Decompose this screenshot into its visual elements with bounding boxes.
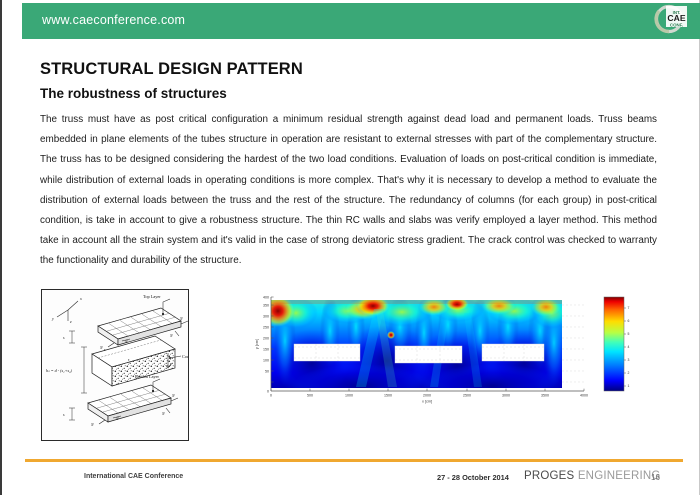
- svg-text:s: s: [63, 412, 65, 417]
- svg-text:400: 400: [263, 295, 269, 299]
- svg-text:500: 500: [307, 394, 313, 398]
- svg-text:3000: 3000: [502, 394, 510, 398]
- svg-text:300: 300: [263, 314, 269, 318]
- svg-text:N: N: [90, 423, 94, 427]
- cae-conference-logo: INT. CAE CONF.: [654, 1, 690, 35]
- svg-text:CONF.: CONF.: [670, 23, 683, 28]
- svg-text:1500: 1500: [384, 394, 392, 398]
- opening-2: [395, 346, 462, 363]
- svg-text:0: 0: [267, 389, 269, 393]
- svg-text:350: 350: [263, 303, 269, 307]
- svg-text:N: N: [161, 412, 165, 416]
- svg-text:6: 6: [628, 319, 630, 323]
- y-axis-label: y [cm]: [255, 339, 259, 349]
- svg-text:hₛ = d - (s₁+s₂): hₛ = d - (s₁+s₂): [46, 368, 73, 373]
- svg-text:N: N: [171, 394, 175, 398]
- svg-text:z: z: [69, 319, 72, 324]
- sandwich-layer-diagram: x y z: [41, 289, 189, 441]
- svg-text:5: 5: [628, 332, 630, 336]
- svg-text:s: s: [63, 335, 65, 340]
- page-subtitle: The robustness of structures: [40, 86, 227, 101]
- svg-text:N: N: [115, 417, 119, 421]
- svg-text:7: 7: [628, 306, 630, 310]
- svg-text:N: N: [179, 317, 183, 321]
- svg-text:3500: 3500: [541, 394, 549, 398]
- svg-text:250: 250: [263, 325, 269, 329]
- svg-text:N: N: [169, 334, 173, 338]
- svg-text:150: 150: [263, 347, 269, 351]
- svg-text:Core: Core: [182, 354, 188, 359]
- svg-text:y: y: [51, 316, 54, 321]
- svg-text:1: 1: [628, 384, 630, 388]
- footer-date: 27 - 28 October 2014: [437, 473, 509, 482]
- x-axis-label: x [cm]: [422, 400, 432, 404]
- svg-text:1000: 1000: [345, 394, 353, 398]
- page-title: STRUCTURAL DESIGN PATTERN: [40, 60, 303, 79]
- footer-divider: [25, 459, 683, 462]
- svg-text:2500: 2500: [463, 394, 471, 398]
- footer-conference: International CAE Conference: [84, 473, 183, 480]
- page-number: 16: [651, 473, 660, 482]
- svg-text:200: 200: [263, 336, 269, 340]
- svg-text:3: 3: [628, 358, 630, 362]
- svg-text:N: N: [99, 346, 103, 350]
- svg-text:50: 50: [265, 369, 269, 373]
- slide: www.caeconference.com INT. CAE CONF. STR…: [0, 0, 700, 495]
- footer-brand-secondary: ENGINEERING: [574, 470, 660, 482]
- svg-text:Bottom Layer: Bottom Layer: [135, 374, 160, 379]
- svg-text:2: 2: [628, 371, 630, 375]
- svg-text:N: N: [124, 340, 128, 344]
- footer-brand-primary: PROGES: [524, 470, 574, 482]
- svg-text:x: x: [79, 296, 82, 301]
- svg-text:0: 0: [270, 394, 272, 398]
- page-border-left: [0, 0, 2, 495]
- svg-text:100: 100: [263, 358, 269, 362]
- header-url[interactable]: www.caeconference.com: [42, 13, 185, 27]
- colorbar: 7 6 5 4 3 2 1: [604, 297, 630, 391]
- svg-text:Top Layer: Top Layer: [143, 294, 161, 299]
- opening-3: [482, 344, 544, 361]
- svg-text:2000: 2000: [423, 394, 431, 398]
- opening-1: [294, 344, 360, 361]
- svg-text:4: 4: [628, 345, 630, 349]
- body-paragraph: The truss must have as post critical con…: [40, 110, 657, 272]
- stress-contour-plot: 400 350 300 250 200 150 100 50 0: [252, 291, 642, 415]
- footer-brand: PROGES ENGINEERING: [524, 470, 661, 482]
- svg-text:CAE: CAE: [667, 13, 685, 23]
- svg-text:4000: 4000: [580, 394, 588, 398]
